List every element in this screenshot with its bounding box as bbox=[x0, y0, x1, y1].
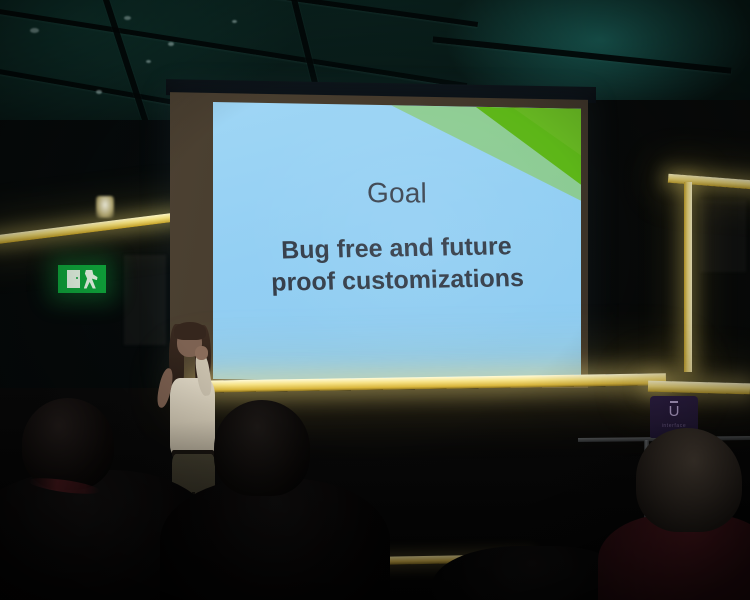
ceiling-light-speck bbox=[96, 90, 102, 94]
slide-body: Bug free and future proof customizations bbox=[230, 229, 564, 299]
ceiling-light-speck bbox=[146, 60, 151, 63]
wall-led-strip-right-vertical bbox=[684, 182, 692, 372]
exit-door-glyph bbox=[67, 270, 80, 288]
ceiling-light-speck bbox=[168, 42, 174, 46]
brand-u-logo-icon: U bbox=[669, 404, 680, 419]
ceiling-light-speck bbox=[124, 16, 131, 20]
slide-surface: Goal Bug free and future proof customiza… bbox=[213, 102, 581, 386]
speaker-hair-top bbox=[174, 322, 206, 340]
spotlight-fixture bbox=[96, 196, 114, 218]
wall-panel bbox=[700, 200, 746, 272]
presentation-photo-scene: Goal Bug free and future proof customiza… bbox=[0, 0, 750, 600]
speaker-hand bbox=[195, 346, 208, 360]
audience-member-front-right-head bbox=[636, 428, 742, 532]
audience-member-front-left-head bbox=[22, 398, 114, 490]
audience-member-front-center-head bbox=[214, 400, 310, 496]
emergency-exit-icon bbox=[58, 265, 106, 293]
ceiling-light-speck bbox=[30, 28, 39, 33]
exit-running-man-glyph bbox=[84, 270, 98, 289]
audience-member-front-center-body bbox=[160, 478, 390, 600]
slide-body-line-2: proof customizations bbox=[231, 261, 564, 299]
ceiling-light-speck bbox=[232, 20, 237, 23]
slide-title: Goal bbox=[213, 176, 581, 210]
